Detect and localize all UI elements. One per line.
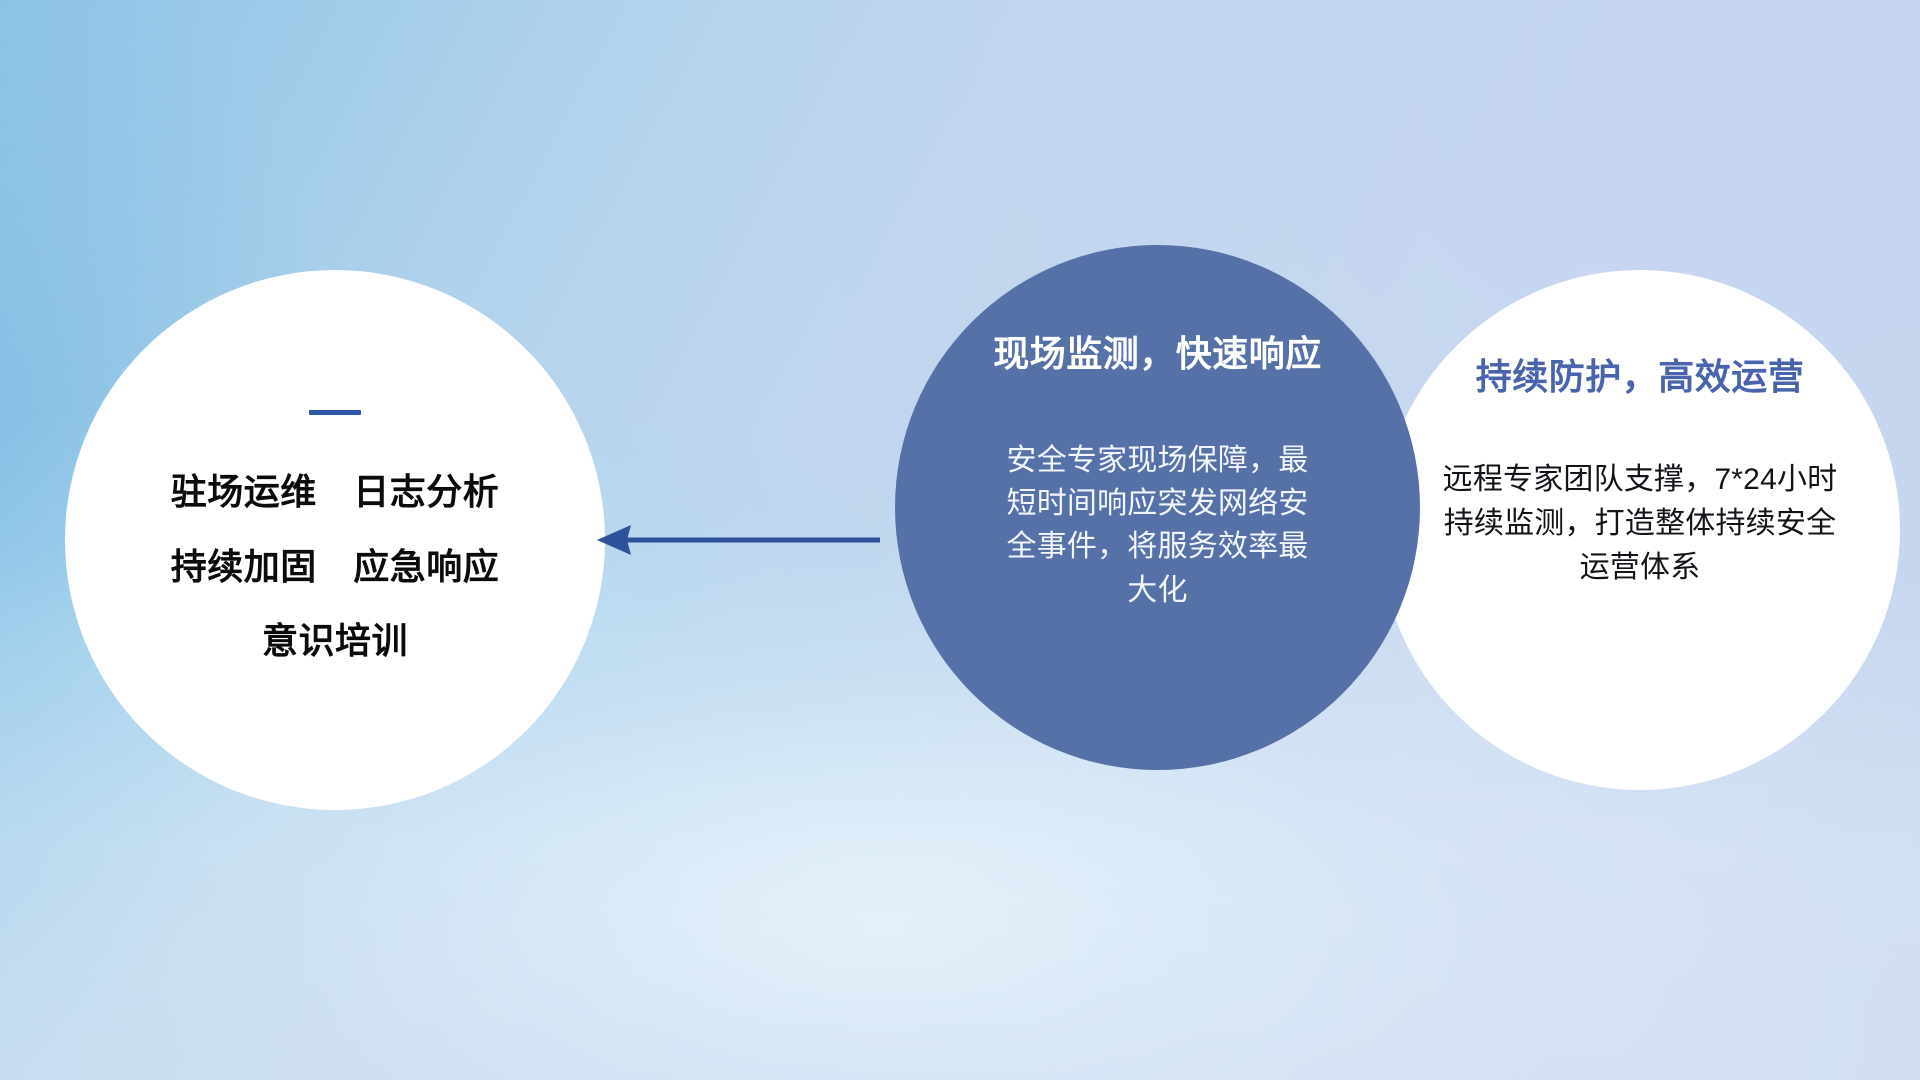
service-circle-right[interactable]: 持续防护，高效运营 远程专家团队支撑，7*24小时持续监测，打造整体持续安全运营… — [1380, 270, 1900, 790]
service-middle-body: 安全专家现场保障，最短时间响应突发网络安全事件，将服务效率最大化 — [998, 439, 1318, 612]
service-middle-title: 现场监测，快速响应 — [993, 325, 1322, 377]
arrow-left-icon — [595, 512, 880, 568]
capability-line-2: 持续加固 应急响应 — [171, 548, 500, 586]
capability-circle-left[interactable]: 驻场运维 日志分析 持续加固 应急响应 意识培训 — [65, 270, 605, 810]
service-right-title: 持续防护，高效运营 — [1476, 348, 1805, 400]
capability-line-1: 驻场运维 日志分析 — [171, 473, 500, 511]
service-right-body: 远程专家团队支撑，7*24小时持续监测，打造整体持续安全运营体系 — [1430, 458, 1850, 589]
slide-canvas: 驻场运维 日志分析 持续加固 应急响应 意识培训 持续防护，高效运营 远程专家团… — [0, 0, 1920, 1080]
service-circle-middle[interactable]: 现场监测，快速响应 安全专家现场保障，最短时间响应突发网络安全事件，将服务效率最… — [895, 245, 1420, 770]
capability-line-3: 意识培训 — [262, 622, 408, 660]
capability-list: 驻场运维 日志分析 持续加固 应急响应 意识培训 — [65, 410, 605, 670]
divider-dash-icon — [309, 410, 361, 415]
